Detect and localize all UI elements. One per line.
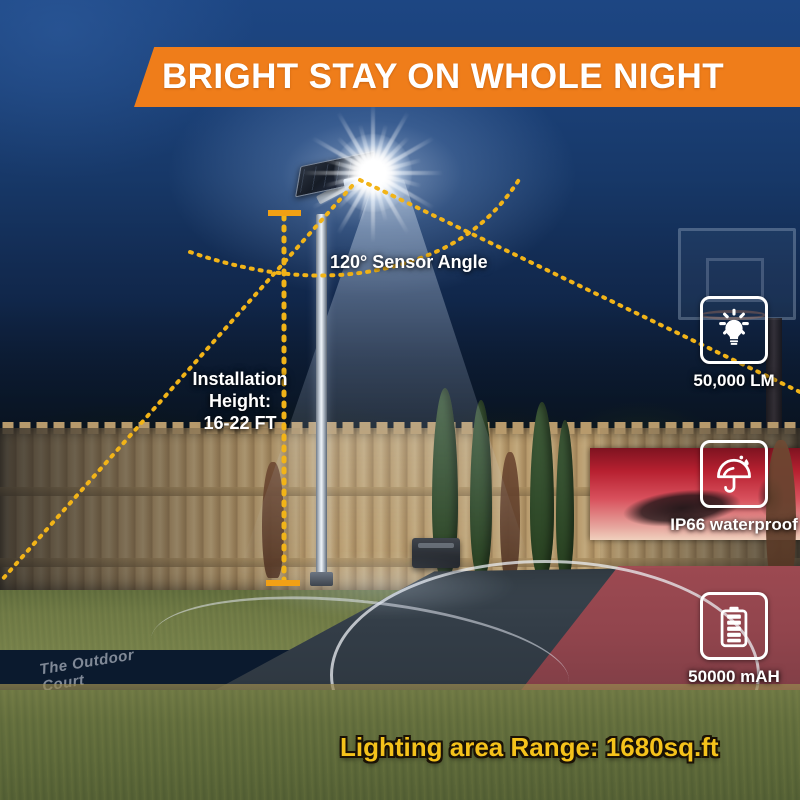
installation-height-label: Installation Height: 16-22 FT bbox=[150, 368, 330, 434]
lamp-light-core bbox=[334, 134, 412, 212]
sensor-angle-label: 120° Sensor Angle bbox=[330, 252, 488, 273]
installation-height-line-3: 16-22 FT bbox=[150, 412, 330, 434]
waterproof-icon-box bbox=[700, 440, 768, 508]
waterproof-label: IP66 waterproof bbox=[634, 515, 800, 535]
battery-icon bbox=[712, 604, 756, 648]
installation-height-line-1: Installation bbox=[150, 368, 330, 390]
pole-base bbox=[310, 572, 333, 586]
installation-height-line-2: Height: bbox=[150, 390, 330, 412]
product-infographic: The Outdoor Court bbox=[0, 0, 800, 800]
lumens-icon-box bbox=[700, 296, 768, 364]
feature-waterproof: IP66 waterproof bbox=[634, 440, 800, 535]
umbrella-rain-icon bbox=[712, 452, 756, 496]
feature-battery: 50000 mAH bbox=[654, 592, 800, 687]
battery-icon-box bbox=[700, 592, 768, 660]
lumens-label: 50,000 LM bbox=[664, 371, 800, 391]
lighting-area-range-text: Lighting area Range: 1680sq.ft bbox=[340, 732, 790, 763]
feature-lumens: 50,000 LM bbox=[664, 296, 800, 391]
headline-text: BRIGHT STAY ON WHOLE NIGHT bbox=[162, 48, 792, 106]
battery-label: 50000 mAH bbox=[654, 667, 800, 687]
light-bulb-icon bbox=[712, 308, 756, 352]
ground-light-pool bbox=[190, 540, 570, 630]
